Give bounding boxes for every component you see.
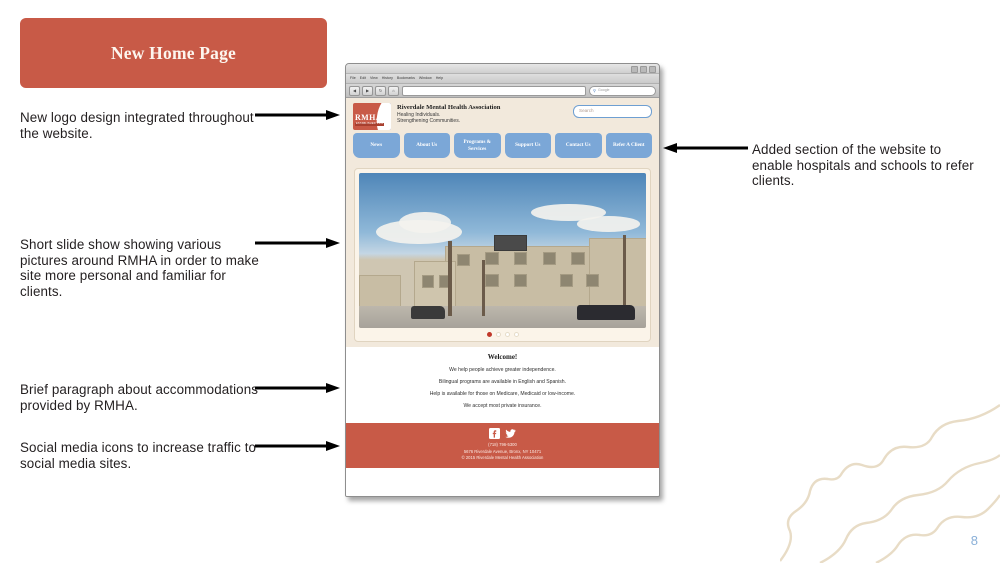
menu-item-edit[interactable]: Edit — [360, 77, 366, 81]
menu-item-bookmarks[interactable]: Bookmarks — [397, 77, 415, 81]
close-icon[interactable] — [649, 66, 656, 73]
annotation-logo-note: New logo design integrated throughout th… — [20, 110, 260, 141]
slideshow-dot-1[interactable] — [487, 332, 492, 337]
slideshow-dot-4[interactable] — [514, 332, 519, 337]
welcome-paragraph-2: Bilingual programs are available in Engl… — [356, 379, 649, 385]
rmha-logo[interactable]: RMHA ESTABLISHED 1955 — [353, 103, 391, 130]
logo-wordmark: RMHA — [355, 114, 382, 122]
nav-item-news[interactable]: News — [353, 133, 400, 158]
minimize-icon[interactable] — [631, 66, 638, 73]
annotation-paragraph-note: Brief paragraph about accommodations pro… — [20, 382, 260, 413]
welcome-paragraph-4: We accept most private insurance. — [356, 403, 649, 409]
org-identity: Riverdale Mental Health Association Heal… — [397, 103, 573, 125]
arrow-to-logo — [255, 109, 340, 121]
menu-item-history[interactable]: History — [382, 77, 393, 81]
facebook-icon[interactable] — [489, 428, 500, 439]
maximize-icon[interactable] — [640, 66, 647, 73]
browser-toolbar: ◀ ▶ ↻ ⌂ ⚲ Google — [346, 84, 659, 98]
slide-title: New Home Page — [111, 43, 236, 64]
browser-titlebar[interactable] — [346, 64, 659, 74]
welcome-paragraph-1: We help people achieve greater independe… — [356, 367, 649, 373]
arrow-to-social — [255, 440, 340, 452]
nav-item-about-us[interactable]: About Us — [404, 133, 451, 158]
org-tagline-2: Strengthening Communities. — [397, 118, 573, 125]
menu-item-file[interactable]: File — [350, 77, 356, 81]
back-icon[interactable]: ◀ — [349, 86, 360, 96]
site-footer: (718) 796-5300 5676 Riverdale Avenue, Br… — [346, 423, 659, 468]
slideshow-section — [346, 164, 659, 347]
welcome-paragraph-3: Help is available for those on Medicare,… — [356, 391, 649, 397]
arrow-to-paragraph — [255, 382, 340, 394]
slideshow-dot-3[interactable] — [505, 332, 510, 337]
address-bar[interactable] — [402, 86, 586, 96]
window-controls[interactable] — [631, 66, 656, 73]
annotation-social-note: Social media icons to increase traffic t… — [20, 440, 260, 471]
slideshow-frame — [354, 168, 651, 342]
slide-title-banner: New Home Page — [20, 18, 327, 88]
org-name: Riverdale Mental Health Association — [397, 104, 573, 112]
welcome-heading: Welcome! — [356, 353, 649, 361]
social-links — [346, 428, 659, 439]
nav-item-programs-services[interactable]: Programs & Services — [454, 133, 501, 158]
slideshow-dot-2[interactable] — [496, 332, 501, 337]
arrow-to-slideshow — [255, 237, 340, 249]
browser-search-field[interactable]: ⚲ Google — [589, 86, 656, 96]
slideshow-dots[interactable] — [359, 328, 646, 337]
menu-item-view[interactable]: View — [370, 77, 378, 81]
site-header: RMHA ESTABLISHED 1955 Riverdale Mental H… — [346, 98, 659, 130]
reload-icon[interactable]: ↻ — [375, 86, 386, 96]
decorative-swirls — [780, 403, 1000, 563]
page-number: 8 — [971, 533, 978, 548]
nav-item-contact-us[interactable]: Contact Us — [555, 133, 602, 158]
annotation-refer-note: Added section of the website to enable h… — [752, 142, 984, 189]
menu-item-help[interactable]: Help — [436, 77, 443, 81]
annotation-slideshow-note: Short slide show showing various picture… — [20, 237, 260, 299]
logo-established: ESTABLISHED 1955 — [355, 123, 384, 126]
org-tagline-1: Healing Individuals. — [397, 112, 573, 119]
slideshow-photo[interactable] — [359, 173, 646, 328]
browser-window: File Edit View History Bookmarks Window … — [345, 63, 660, 497]
site-search-input[interactable]: Search — [573, 105, 652, 118]
home-icon[interactable]: ⌂ — [388, 86, 399, 96]
browser-menubar[interactable]: File Edit View History Bookmarks Window … — [346, 74, 659, 84]
welcome-section: Welcome! We help people achieve greater … — [346, 347, 659, 423]
footer-copyright: © 2015 Riverdale Mental Health Associati… — [346, 455, 659, 462]
forward-icon[interactable]: ▶ — [362, 86, 373, 96]
magnifier-icon: ⚲ — [593, 89, 596, 93]
menu-item-window[interactable]: Window — [419, 77, 432, 81]
site-navigation: News About Us Programs & Services Suppor… — [346, 130, 659, 164]
arrow-to-refer-section — [663, 142, 748, 154]
nav-item-support-us[interactable]: Support Us — [505, 133, 552, 158]
browser-search-placeholder: Google — [598, 89, 610, 93]
twitter-icon[interactable] — [505, 428, 516, 439]
nav-item-refer-a-client[interactable]: Refer A Client — [606, 133, 653, 158]
site-search-placeholder: Search — [579, 109, 594, 114]
website-viewport: RMHA ESTABLISHED 1955 Riverdale Mental H… — [346, 98, 659, 497]
